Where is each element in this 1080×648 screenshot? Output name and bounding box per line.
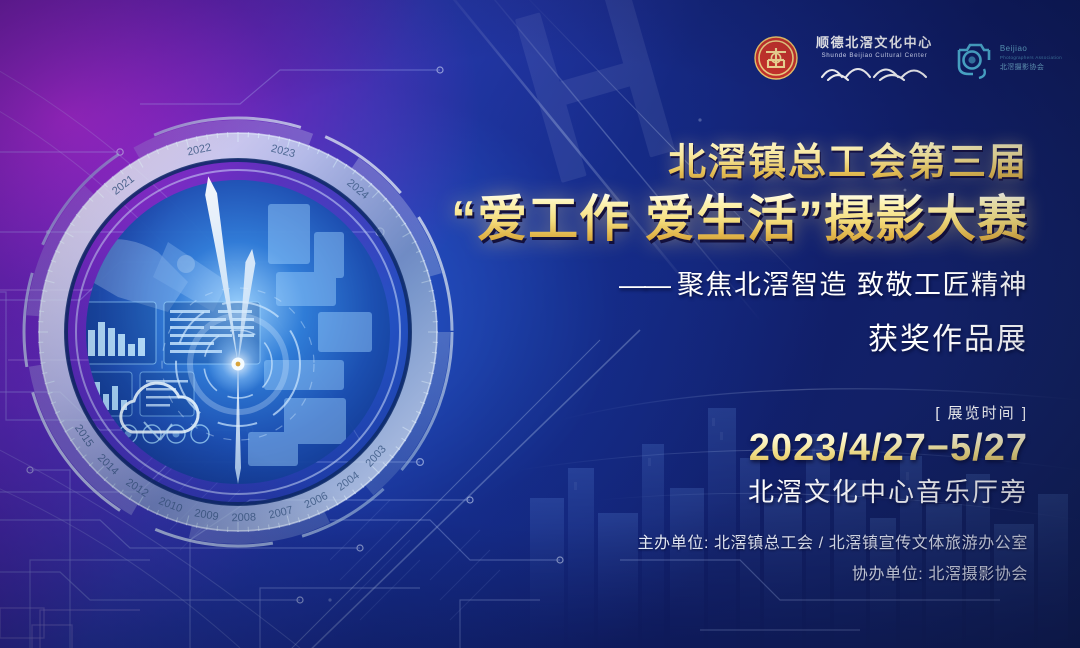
- logo-bar: 顺德北滘文化中心 Shunde Beijiao Cultural Center: [754, 36, 1062, 81]
- subtitle-text: 聚焦北滘智造 致敬工匠精神: [677, 270, 1028, 300]
- cultural-center-name-cn: 顺德北滘文化中心: [816, 36, 933, 51]
- wave-mark-icon: [818, 61, 930, 81]
- organizer-block: 主办单位: 北滘镇总工会 / 北滘镇宣传文体旅游办公室 协办单位: 北滘摄影协会: [408, 528, 1028, 590]
- camera-lens-icon: [951, 36, 995, 80]
- date-label: [ 展览时间 ]: [428, 402, 1028, 423]
- poster-canvas: 2021202220232024200320042006200720082009…: [0, 0, 1080, 648]
- date-block: [ 展览时间 ] 2023/4/27−5/27 北滘文化中心音乐厅旁: [428, 402, 1028, 509]
- cultural-center-logo: 顺德北滘文化中心 Shunde Beijiao Cultural Center: [816, 36, 933, 81]
- acfu-logo: [754, 36, 798, 80]
- futuristic-clock-dial: 2021202220232024200320042006200720082009…: [18, 112, 458, 552]
- title-line-2: “爱工作 爱生活”摄影大赛: [428, 190, 1028, 249]
- svg-text:2008: 2008: [231, 511, 256, 524]
- photography-logo-line3: 北滘摄影协会: [1000, 62, 1062, 72]
- photography-logo-line1: Beijiao: [1000, 44, 1062, 53]
- venue-text: 北滘文化中心音乐厅旁: [428, 472, 1028, 509]
- cultural-center-name-en: Shunde Beijiao Cultural Center: [821, 52, 927, 59]
- coorganizer-line: 协办单位: 北滘摄影协会: [408, 559, 1028, 590]
- exhibit-label: 获奖作品展: [428, 314, 1028, 358]
- subtitle-dash: ——: [619, 270, 669, 301]
- photography-logo-line2: Photographers Association: [1000, 55, 1062, 60]
- title-block: 北滘镇总工会第三届 “爱工作 爱生活”摄影大赛 ——聚焦北滘智造 致敬工匠精神 …: [428, 140, 1028, 358]
- date-range: 2023/4/27−5/27: [428, 427, 1028, 470]
- subtitle-line: ——聚焦北滘智造 致敬工匠精神: [428, 263, 1028, 302]
- photography-association-logo: Beijiao Photographers Association 北滘摄影协会: [951, 36, 1062, 80]
- organizer-line: 主办单位: 北滘镇总工会 / 北滘镇宣传文体旅游办公室: [408, 528, 1028, 559]
- title-line-1: 北滘镇总工会第三届: [428, 140, 1028, 186]
